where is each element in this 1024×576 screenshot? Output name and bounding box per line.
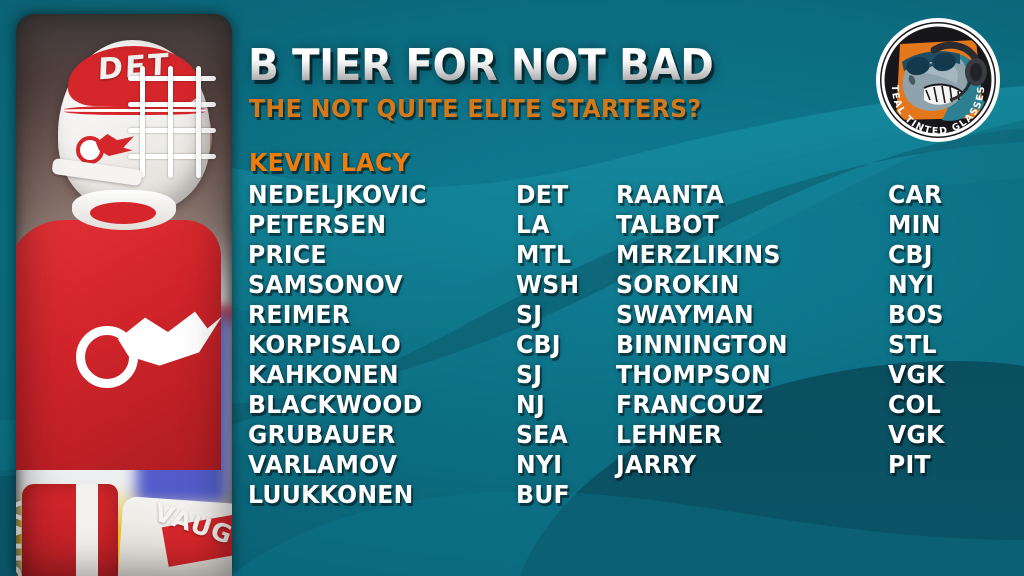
goalie-team: BOS — [888, 300, 991, 330]
roster-row: SOROKINNYI — [616, 270, 1016, 300]
author-byline: KEVIN LACY — [249, 150, 410, 175]
goalie-name: JARRY — [616, 450, 872, 480]
goalie-name: PRICE — [248, 240, 500, 270]
goalie-name: BLACKWOOD — [248, 390, 500, 420]
red-wings-winged-wheel-icon — [70, 300, 220, 396]
roster-row: JARRYPIT — [616, 450, 1016, 480]
roster-row: FRANCOUZCOL — [616, 390, 1016, 420]
goalie-name: MERZLIKINS — [616, 240, 872, 270]
roster-row: REIMERSJ — [248, 300, 628, 330]
goalie-team: CAR — [888, 180, 991, 210]
goalie-name: NEDELJKOVIC — [248, 180, 500, 210]
goalie-team: NYI — [888, 270, 991, 300]
roster-row: LEHNERVGK — [616, 420, 1016, 450]
goalie-team: STL — [888, 330, 991, 360]
goalie-team: DET — [516, 180, 619, 210]
goalie-name: REIMER — [248, 300, 500, 330]
goalie-name: RAANTA — [616, 180, 872, 210]
goalie-name: BINNINGTON — [616, 330, 872, 360]
goalie-team: SJ — [516, 300, 619, 330]
pad-brand-left: VAUGHN — [16, 500, 26, 576]
content-area: B TIER FOR NOT BAD THE NOT QUITE ELITE S… — [248, 0, 1024, 576]
goalie-team: CBJ — [888, 240, 991, 270]
roster-column-right: RAANTACARTALBOTMINMERZLIKINSCBJSOROKINNY… — [616, 180, 1016, 480]
goalie-name: SOROKIN — [616, 270, 872, 300]
roster-row: LUUKKONENBUF — [248, 480, 628, 510]
goalie-team: WSH — [516, 270, 619, 300]
goalie-team: VGK — [888, 420, 991, 450]
roster-row: PETERSENLA — [248, 210, 628, 240]
goalie-name: TALBOT — [616, 210, 872, 240]
roster-column-left: NEDELJKOVICDETPETERSENLAPRICEMTLSAMSONOV… — [248, 180, 628, 510]
goalie-team: SJ — [516, 360, 619, 390]
roster-row: SAMSONOVWSH — [248, 270, 628, 300]
goalie-team: NYI — [516, 450, 619, 480]
goalie-team: SEA — [516, 420, 619, 450]
roster-row: KAHKONENSJ — [248, 360, 628, 390]
goalie-photo: VAUGHN VAUGHN DET — [16, 14, 232, 576]
goalie-name: SWAYMAN — [616, 300, 872, 330]
goalie-name: KORPISALO — [248, 330, 500, 360]
mask-chin — [72, 190, 176, 230]
goalie-pad-left — [22, 484, 118, 576]
page-title: B TIER FOR NOT BAD — [248, 44, 713, 88]
roster-row: KORPISALOCBJ — [248, 330, 628, 360]
roster-row: PRICEMTL — [248, 240, 628, 270]
goalie-team: MTL — [516, 240, 619, 270]
goalie-team: VGK — [888, 360, 991, 390]
roster-row: THOMPSONVGK — [616, 360, 1016, 390]
roster-row: TALBOTMIN — [616, 210, 1016, 240]
graphic-canvas: VAUGHN VAUGHN DET — [0, 0, 1024, 576]
goalie-team: LA — [516, 210, 619, 240]
goalie-team: PIT — [888, 450, 991, 480]
roster-row: GRUBAUERSEA — [248, 420, 628, 450]
goalie-name: THOMPSON — [616, 360, 872, 390]
roster-row: BINNINGTONSTL — [616, 330, 1016, 360]
goalie-name: LEHNER — [616, 420, 872, 450]
goalie-name: PETERSEN — [248, 210, 500, 240]
goalie-team: CBJ — [516, 330, 619, 360]
goalie-team: COL — [888, 390, 991, 420]
roster-row: BLACKWOODNJ — [248, 390, 628, 420]
roster-row: NEDELJKOVICDET — [248, 180, 628, 210]
goalie-name: LUUKKONEN — [248, 480, 500, 510]
goalie-name: VARLAMOV — [248, 450, 500, 480]
roster-row: RAANTACAR — [616, 180, 1016, 210]
page-subtitle: THE NOT QUITE ELITE STARTERS? — [249, 96, 702, 121]
goalie-team: MIN — [888, 210, 991, 240]
goalie-name: FRANCOUZ — [616, 390, 872, 420]
goalie-name: KAHKONEN — [248, 360, 500, 390]
goalie-team: BUF — [516, 480, 619, 510]
goalie-name: SAMSONOV — [248, 270, 500, 300]
roster-row: MERZLIKINSCBJ — [616, 240, 1016, 270]
mask-cage — [128, 66, 216, 178]
goalie-name: GRUBAUER — [248, 420, 500, 450]
roster-row: VARLAMOVNYI — [248, 450, 628, 480]
goalie-team: NJ — [516, 390, 619, 420]
roster-row: SWAYMANBOS — [616, 300, 1016, 330]
